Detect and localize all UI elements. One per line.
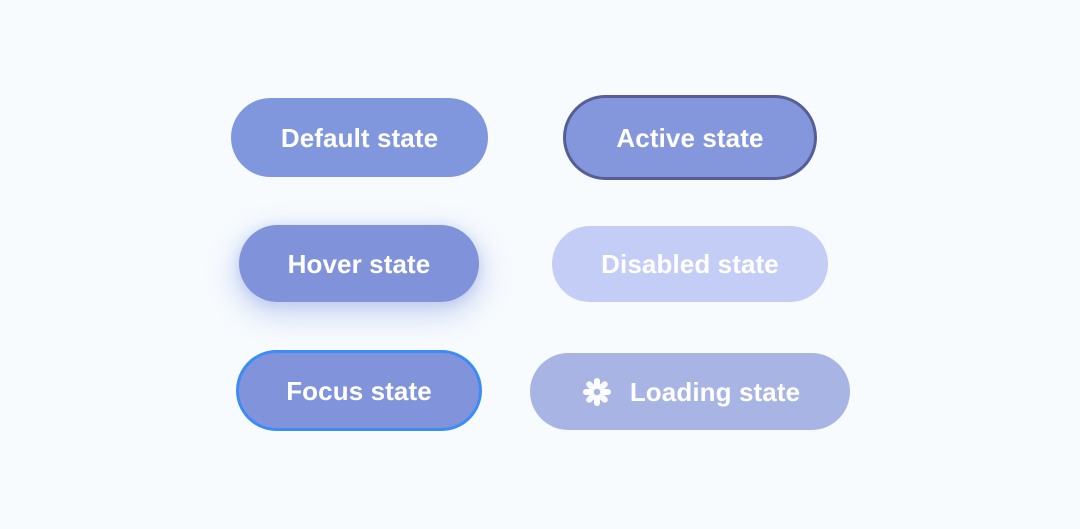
button-hover-state-label: Hover state [288, 251, 431, 277]
button-disabled-state: Disabled state [552, 226, 828, 302]
button-disabled-state-label: Disabled state [601, 251, 779, 277]
button-default-state-label: Default state [281, 125, 438, 151]
button-active-state[interactable]: Active state [563, 95, 817, 180]
button-default-state[interactable]: Default state [231, 98, 488, 177]
button-states-canvas: Default state Active state Hover state D… [0, 0, 1080, 529]
spinner-icon [580, 375, 614, 409]
button-loading-state: Loading state [530, 353, 850, 430]
button-active-state-label: Active state [616, 125, 763, 151]
button-loading-state-label: Loading state [630, 379, 800, 405]
button-focus-state-label: Focus state [286, 378, 432, 404]
button-focus-state[interactable]: Focus state [236, 350, 482, 431]
button-hover-state[interactable]: Hover state [239, 225, 479, 302]
